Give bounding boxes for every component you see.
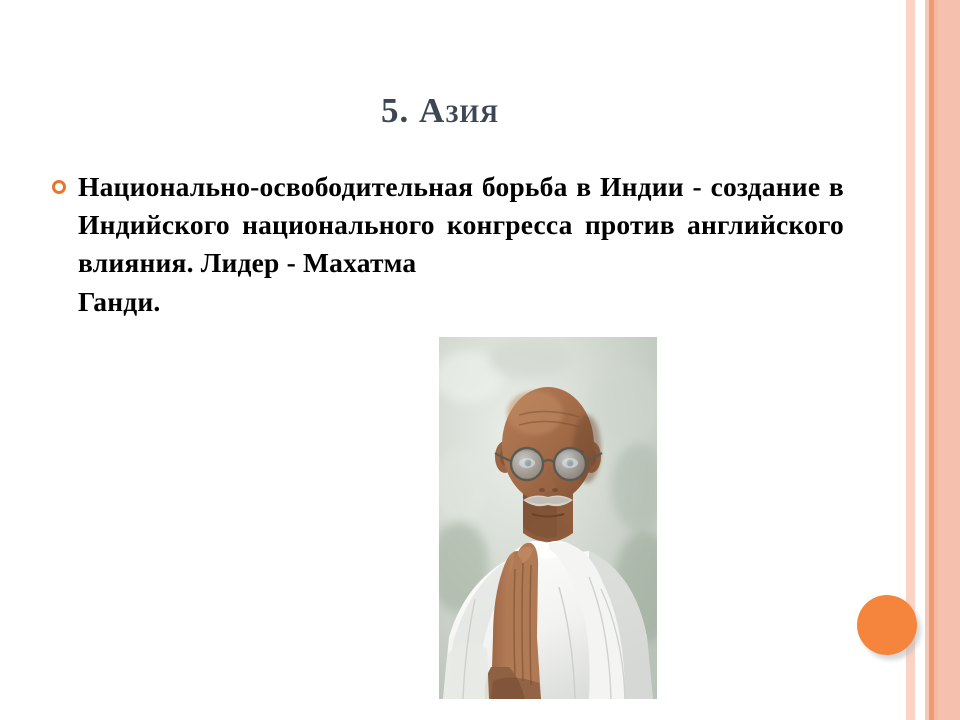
slide-canvas: 5. Азия Национально-освободительная борь… <box>0 0 960 720</box>
bullet-marker-icon <box>52 180 66 194</box>
accent-circle <box>857 595 917 655</box>
edge-stripe-5 <box>938 0 960 720</box>
bullet-list-item: Национально-освободительная борьба в Инд… <box>52 168 844 321</box>
bullet-text-lastline: Ганди. <box>78 283 844 321</box>
gandhi-portrait-illustration <box>439 337 657 699</box>
bullet-text: Национально-освободительная борьба в Инд… <box>78 171 844 278</box>
bullet-text-container: Национально-освободительная борьба в Инд… <box>78 168 844 321</box>
slide-title: 5. Азия <box>0 92 880 131</box>
body-content: Национально-освободительная борьба в Инд… <box>52 168 844 321</box>
mahatma-gandhi-photo <box>439 337 657 699</box>
